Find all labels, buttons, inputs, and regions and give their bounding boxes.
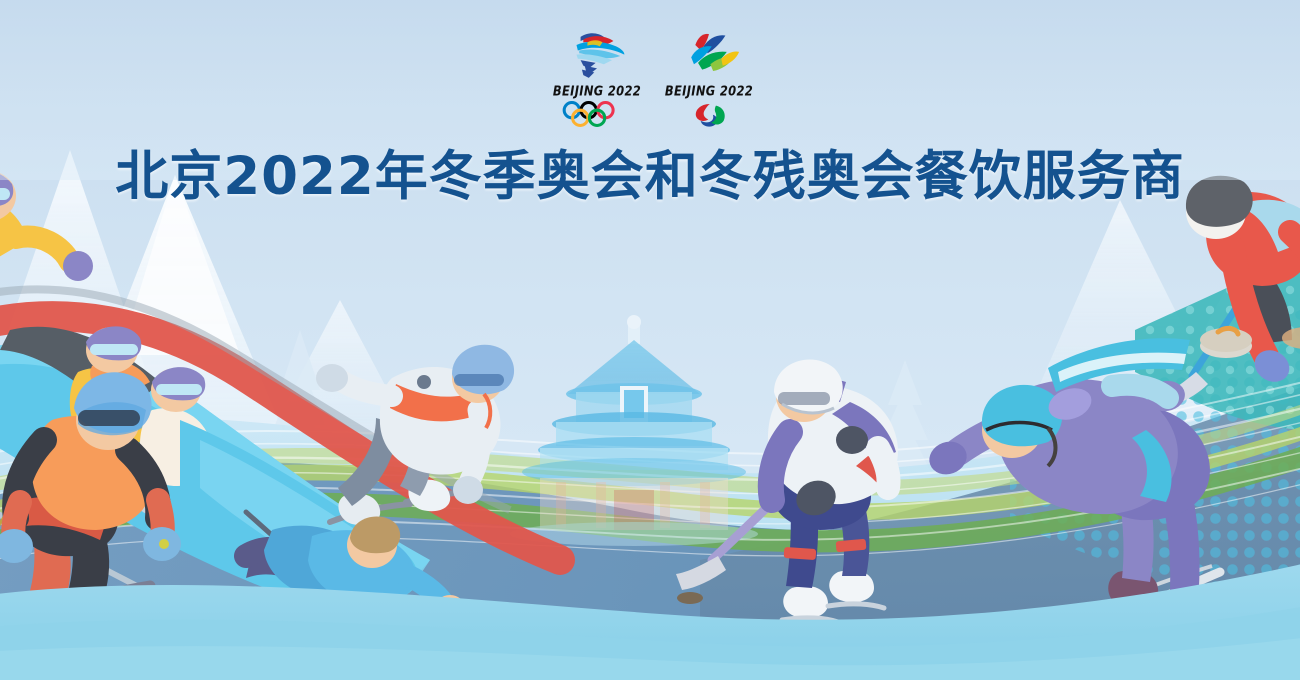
page-title: 北京2022年冬季奥会和冬残奥会餐饮服务商 <box>0 146 1300 208</box>
olympic-rings-icon <box>555 101 639 127</box>
olympic-emblem-block: BEIJING 2022 <box>548 30 646 127</box>
agitos-icon <box>667 101 751 127</box>
emblem-group: BEIJING 2022 BEIJING 20 <box>548 30 758 135</box>
beijing-2022-winter-olympics-emblem-icon <box>555 30 639 82</box>
beijing-2022-winter-paralympics-emblem-icon <box>667 30 751 82</box>
curling-stone-top <box>1200 328 1252 358</box>
olympic-wordmark: BEIJING 2022 <box>553 83 641 99</box>
paralympic-emblem-block: BEIJING 2022 <box>660 30 758 127</box>
beijing-2022-banner: BEIJING 2022 BEIJING 20 <box>0 0 1300 680</box>
paralympic-wordmark: BEIJING 2022 <box>665 83 753 99</box>
